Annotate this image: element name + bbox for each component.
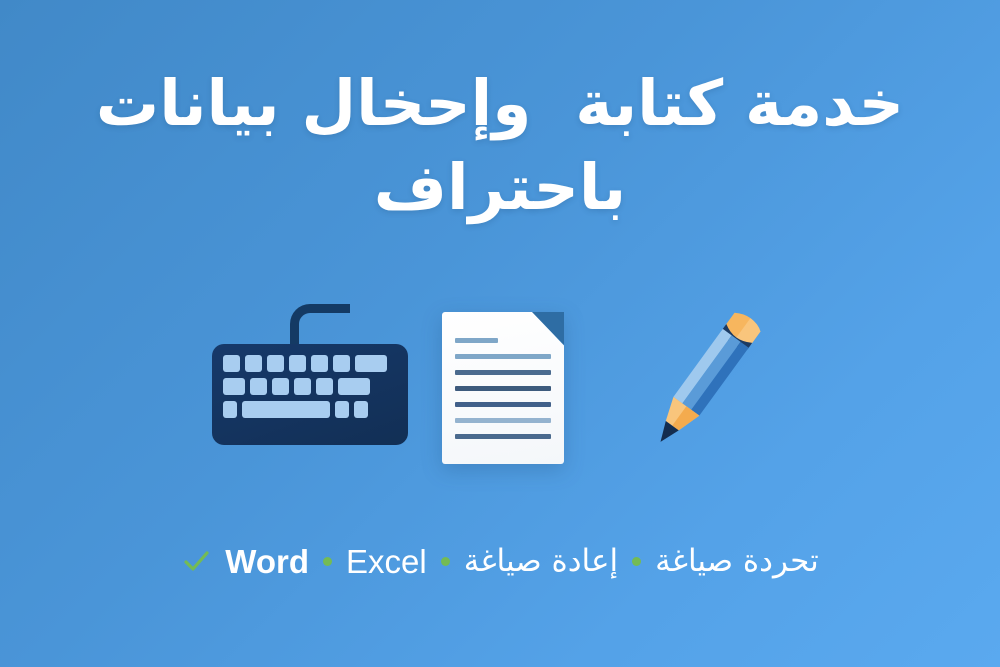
keyboard-key [223,355,240,372]
keyboard-key [223,401,237,418]
keyboard-key [316,378,333,395]
document-line [455,434,551,439]
document-line [455,386,551,391]
keyboard-icon [212,304,408,454]
feature-item-3: Word [225,545,309,578]
keyboard-body [212,344,408,445]
document-line [455,402,551,407]
keyboard-key [250,378,267,395]
keyboard-key-row [223,378,397,395]
document-line [455,338,498,343]
separator-dot-icon [323,557,332,566]
feature-list: تحردة صياغة إعادة صياغة Excel Word [0,530,1000,592]
document-icon [442,312,564,464]
keyboard-cable-icon [290,304,350,346]
keyboard-key [355,355,387,372]
separator-dot-icon [632,557,641,566]
keyboard-key [335,401,349,418]
keyboard-key-row [223,355,397,372]
keyboard-key [272,378,289,395]
headline-line-1: خدمة كتابة وإحخال بيانات [40,62,960,146]
keyboard-keys [223,355,397,434]
check-icon [181,546,211,576]
keyboard-key-row [223,401,397,418]
promo-banner: خدمة كتابة وإحخال بيانات باحتراف [0,0,1000,667]
document-line [455,418,551,423]
headline-line-2: باحتراف [40,146,960,230]
keyboard-key [245,355,262,372]
keyboard-key [267,355,284,372]
keyboard-key [294,378,311,395]
page-title: خدمة كتابة وإحخال بيانات باحتراف [0,62,1000,230]
pencil-icon [634,302,774,462]
keyboard-key [311,355,328,372]
document-text-lines [455,338,551,450]
document-line [455,354,551,359]
feature-item-2: Excel [346,545,427,578]
separator-dot-icon [441,557,450,566]
feature-item-1: إعادة صياغة [464,546,618,577]
keyboard-spacebar [242,401,330,418]
document-line [455,370,551,375]
icon-row [0,296,1000,486]
keyboard-key [338,378,370,395]
feature-item-0: تحردة صياغة [655,546,819,577]
keyboard-key [333,355,350,372]
keyboard-key [223,378,245,395]
keyboard-key [289,355,306,372]
keyboard-key [354,401,368,418]
